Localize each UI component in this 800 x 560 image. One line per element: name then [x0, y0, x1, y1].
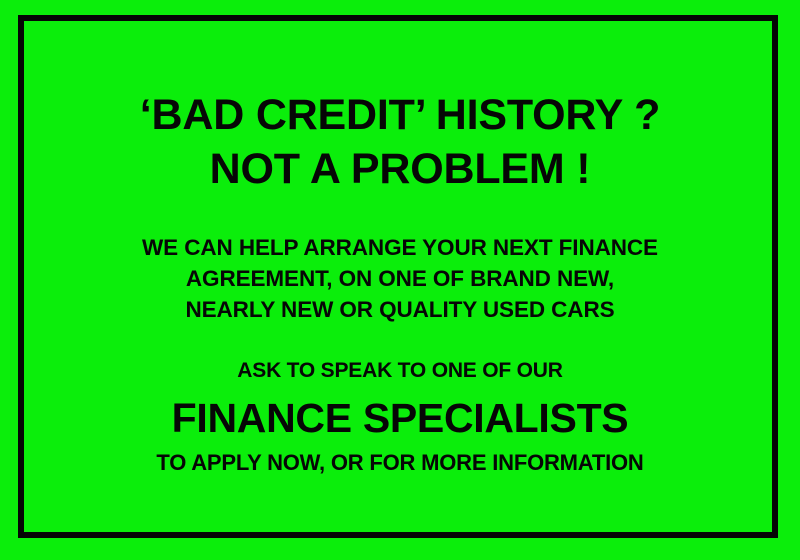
cta-footer-line: TO APPLY NOW, OR FOR MORE INFORMATION — [156, 448, 643, 477]
advertisement-poster: ‘BAD CREDIT’ HISTORY ? NOT A PROBLEM ! W… — [0, 0, 800, 560]
headline-line-1: ‘BAD CREDIT’ HISTORY ? — [140, 88, 660, 142]
body-line-3: NEARLY NEW OR QUALITY USED CARS — [185, 294, 614, 325]
body-line-2: AGREEMENT, ON ONE OF BRAND NEW, — [186, 263, 614, 294]
poster-content: ‘BAD CREDIT’ HISTORY ? NOT A PROBLEM ! W… — [0, 0, 800, 560]
cta-intro-line: ASK TO SPEAK TO ONE OF OUR — [237, 357, 562, 385]
cta-emphasis-line: FINANCE SPECIALISTS — [172, 393, 629, 443]
headline-line-2: NOT A PROBLEM ! — [210, 142, 591, 196]
body-line-1: WE CAN HELP ARRANGE YOUR NEXT FINANCE — [142, 232, 658, 263]
